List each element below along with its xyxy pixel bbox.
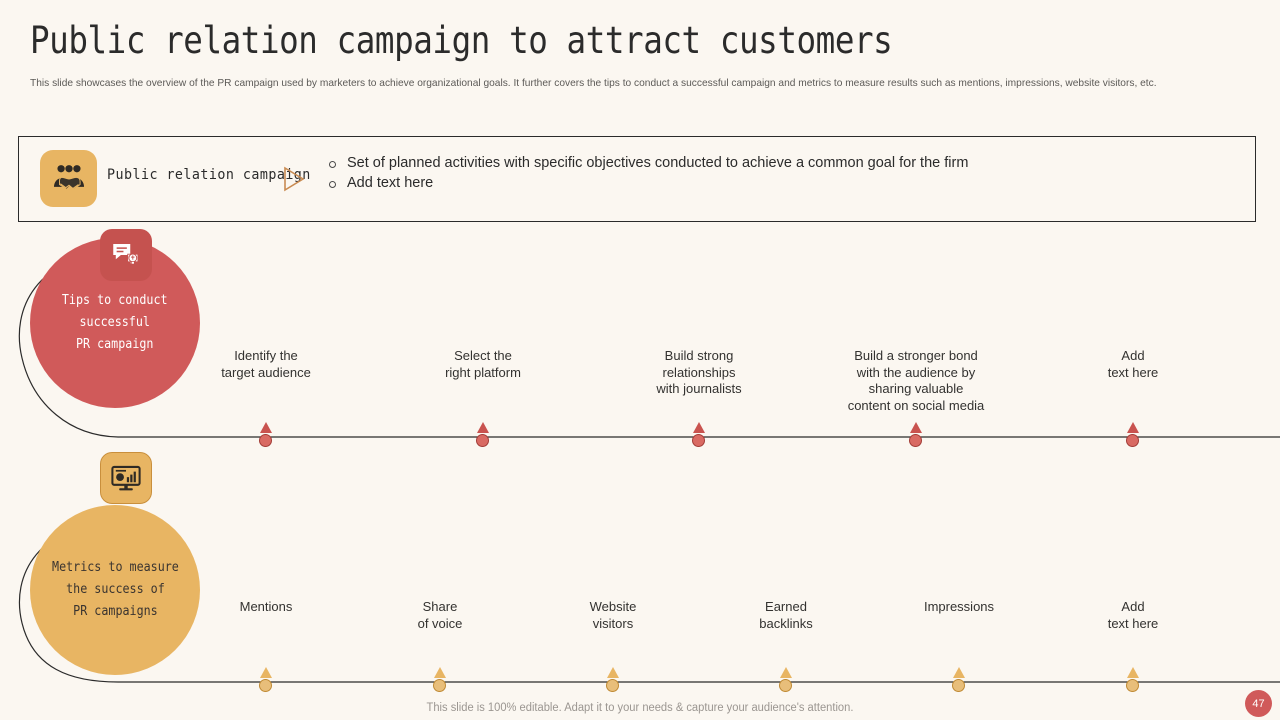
step-line: Website (523, 599, 703, 616)
metrics-step-label: Earned backlinks (696, 599, 876, 632)
tips-circle-line: PR campaign (62, 334, 168, 356)
metrics-marker (948, 667, 970, 695)
monitor-analytics-icon (100, 452, 152, 504)
tips-marker (905, 422, 927, 450)
step-line: relationships (609, 365, 789, 382)
step-line: backlinks (696, 616, 876, 633)
metrics-marker (429, 667, 451, 695)
tips-marker (688, 422, 710, 450)
step-line: with journalists (609, 381, 789, 398)
metrics-marker (602, 667, 624, 695)
tips-step-label: Build strong relationships with journali… (609, 348, 789, 398)
definition-box: Public relation campaign Set of planned … (18, 136, 1256, 222)
metrics-row: Metrics to measure the success of PR cam… (0, 448, 1280, 683)
tips-step-label: Select the right platform (393, 348, 573, 381)
tips-circle-line: Tips to conduct (62, 290, 168, 312)
slide-root: Public relation campaign to attract cust… (0, 0, 1280, 720)
step-line: of voice (350, 616, 530, 633)
step-line: Build strong (609, 348, 789, 365)
tips-marker (255, 422, 277, 450)
step-line: sharing valuable (811, 381, 1021, 398)
step-line: with the audience by (811, 365, 1021, 382)
page-subtitle: This slide showcases the overview of the… (30, 76, 1218, 90)
metrics-marker (775, 667, 797, 695)
step-line: Add (1043, 599, 1223, 616)
step-line: Build a stronger bond (811, 348, 1021, 365)
metrics-circle-line: the success of (52, 579, 179, 601)
step-line: content on social media (811, 398, 1021, 415)
tips-step-label: Identify the target audience (176, 348, 356, 381)
speech-bubble-lightbulb-icon (100, 229, 152, 281)
step-line: text here (1043, 365, 1223, 382)
metrics-circle: Metrics to measure the success of PR cam… (30, 505, 200, 675)
step-line: Add (1043, 348, 1223, 365)
step-line: Impressions (869, 599, 1049, 616)
step-line: Earned (696, 599, 876, 616)
metrics-marker (1122, 667, 1144, 695)
step-line: visitors (523, 616, 703, 633)
metrics-step-label: Share of voice (350, 599, 530, 632)
metrics-step-label: Add text here (1043, 599, 1223, 632)
triangle-right-icon (281, 165, 307, 193)
metrics-step-label: Mentions (176, 599, 356, 616)
tips-circle-line: successful (62, 312, 168, 334)
metrics-step-label: Impressions (869, 599, 1049, 616)
metrics-marker (255, 667, 277, 695)
definition-bullet: Add text here (325, 174, 968, 193)
step-line: target audience (176, 365, 356, 382)
tips-marker (472, 422, 494, 450)
metrics-circle-line: Metrics to measure (52, 557, 179, 579)
tips-step-label: Add text here (1043, 348, 1223, 381)
step-line: right platform (393, 365, 573, 382)
step-line: text here (1043, 616, 1223, 633)
tips-marker (1122, 422, 1144, 450)
definition-bullets: Set of planned activities with specific … (325, 154, 968, 194)
footer-note: This slide is 100% editable. Adapt it to… (19, 702, 1261, 714)
step-line: Share (350, 599, 530, 616)
page-title: Public relation campaign to attract cust… (30, 20, 892, 62)
step-line: Mentions (176, 599, 356, 616)
metrics-step-label: Website visitors (523, 599, 703, 632)
tips-circle-label: Tips to conduct successful PR campaign (62, 290, 168, 356)
definition-bullet: Set of planned activities with specific … (325, 154, 968, 173)
handshake-people-icon (40, 150, 97, 207)
step-line: Identify the (176, 348, 356, 365)
metrics-circle-label: Metrics to measure the success of PR cam… (52, 557, 179, 623)
page-number-badge: 47 (1245, 690, 1272, 717)
tips-row: Tips to conduct successful PR campaign I… (0, 230, 1280, 445)
metrics-circle-line: PR campaigns (52, 601, 179, 623)
step-line: Select the (393, 348, 573, 365)
tips-step-label: Build a stronger bond with the audience … (811, 348, 1021, 414)
